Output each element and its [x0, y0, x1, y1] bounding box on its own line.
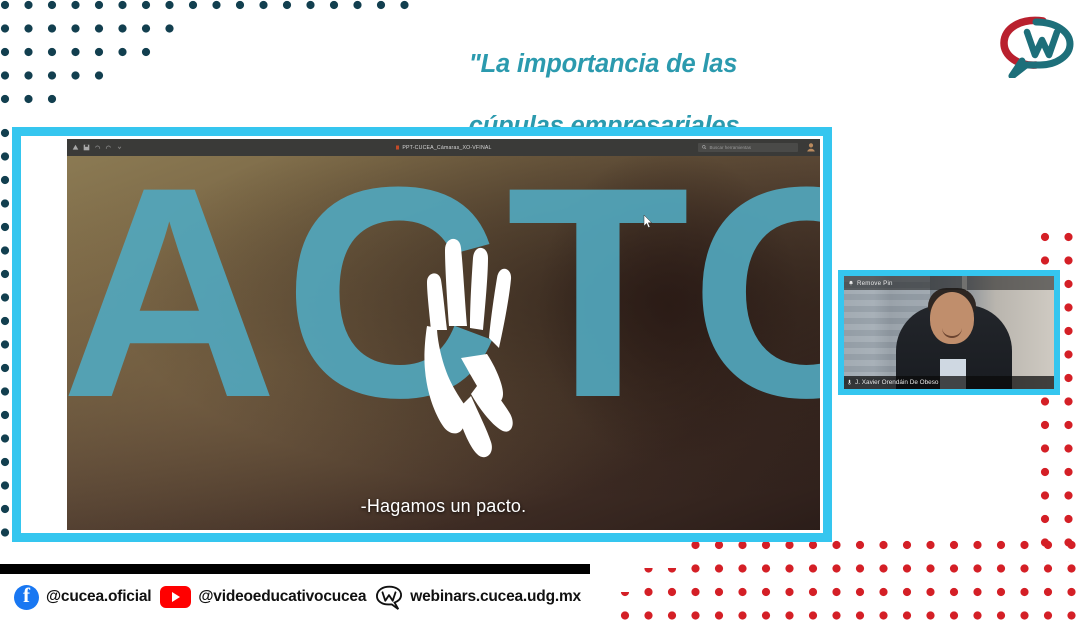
red-dot-field-bottomright	[620, 540, 1086, 620]
footer-divider	[0, 564, 590, 574]
participant-video-tile[interactable]: Remove Pin J. Xavier Orendáin De Obeso	[838, 270, 1060, 395]
footer-item-facebook[interactable]: @cucea.oficial	[14, 585, 151, 610]
webinars-w-icon	[375, 584, 403, 610]
shared-application-window[interactable]: PPT-CUCEA_Cámaras_XO-VFINAL Buscar herra…	[67, 139, 820, 530]
slide-caption: -Hagamos un pacto.	[67, 496, 820, 517]
youtube-icon	[160, 586, 191, 608]
file-icon	[395, 145, 400, 150]
footer-item-youtube[interactable]: @videoeducativocucea	[160, 586, 366, 608]
presentation-slide: ACTO -Hagamos un	[67, 156, 820, 530]
remove-pin-button[interactable]: Remove Pin	[844, 276, 1054, 290]
mouse-cursor-icon	[643, 214, 653, 229]
participant-name: J. Xavier Orendáin De Obeso	[855, 379, 938, 386]
powerpoint-title-bar: PPT-CUCEA_Cámaras_XO-VFINAL Buscar herra…	[67, 139, 820, 156]
youtube-handle: @videoeducativocucea	[198, 588, 366, 606]
participant-video-feed	[844, 276, 1054, 389]
microphone-icon	[847, 379, 852, 386]
search-input[interactable]: Buscar herramientas	[698, 143, 798, 152]
search-icon	[702, 145, 707, 150]
document-title: PPT-CUCEA_Cámaras_XO-VFINAL	[402, 145, 491, 151]
webinars-url: webinars.cucea.udg.mx	[410, 588, 581, 606]
screen-share-frame: PPT-CUCEA_Cámaras_XO-VFINAL Buscar herra…	[12, 127, 832, 542]
title-line-1: "La importancia de las	[330, 49, 860, 80]
white-hand-icon	[375, 218, 535, 498]
participant-name-bar: J. Xavier Orendáin De Obeso	[844, 376, 1054, 389]
pin-icon	[848, 280, 854, 286]
footer-item-webinars[interactable]: webinars.cucea.udg.mx	[375, 584, 581, 610]
social-footer-bar: @cucea.oficial @videoeducativocucea webi…	[0, 574, 590, 620]
search-placeholder: Buscar herramientas	[710, 145, 752, 150]
slide-canvas: "La importancia de las cúpulas empresari…	[0, 0, 1086, 620]
cw-webinars-logo-icon	[996, 12, 1078, 78]
facebook-handle: @cucea.oficial	[46, 588, 151, 606]
facebook-icon	[14, 585, 39, 610]
remove-pin-label: Remove Pin	[857, 280, 893, 287]
user-avatar-icon[interactable]	[806, 142, 816, 152]
